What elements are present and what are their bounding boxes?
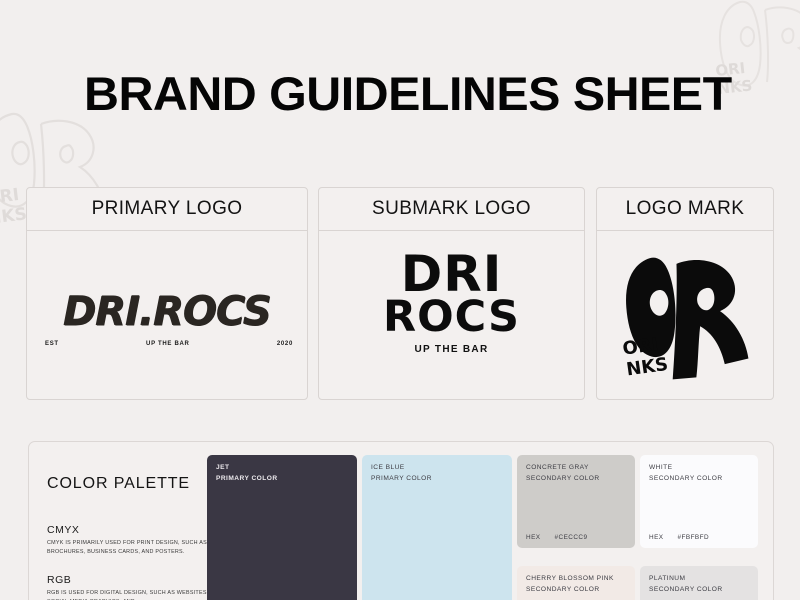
swatch-role: SECONDARY COLOR [526, 585, 614, 596]
primary-logo-artwork: DRI.ROCS EST UP THE BAR 2020 [27, 289, 307, 335]
swatch-hex-row: HEX #FBFBFD [649, 534, 709, 541]
card-header: SUBMARK LOGO [319, 188, 584, 231]
swatch-cherry-blossom-pink[interactable]: CHERRY BLOSSOM PINK SECONDARY COLOR [517, 566, 635, 600]
swatch-name: JET [216, 463, 278, 474]
swatch-role: SECONDARY COLOR [649, 474, 723, 485]
swatch-ice-blue[interactable]: ICE BLUE PRIMARY COLOR [362, 455, 512, 600]
swatch-name: ICE BLUE [371, 463, 432, 474]
swatch-label: CONCRETE GRAY SECONDARY COLOR [526, 463, 600, 485]
color-palette-panel: COLOR PALETTE CMYX CMYK IS PRIMARILY USE… [28, 441, 774, 600]
card-header: PRIMARY LOGO [27, 188, 307, 231]
swatch-label: CHERRY BLOSSOM PINK SECONDARY COLOR [526, 574, 614, 596]
primary-logo-microtext: EST UP THE BAR 2020 [45, 341, 293, 347]
swatch-white[interactable]: WHITE SECONDARY COLOR HEX #FBFBFD [640, 455, 758, 548]
swatch-name: CHERRY BLOSSOM PINK [526, 574, 614, 585]
card-logo-mark: LOGO MARK ORI NKS [596, 187, 774, 400]
swatch-name: CONCRETE GRAY [526, 463, 600, 474]
swatch-platinum[interactable]: PLATINUM SECONDARY COLOR [640, 566, 758, 600]
hex-label: HEX [526, 534, 541, 541]
palette-section-rgb: RGB RGB IS USED FOR DIGITAL DESIGN, SUCH… [47, 574, 219, 600]
submark-tagline: UP THE BAR [319, 344, 584, 355]
swatch-name: WHITE [649, 463, 723, 474]
palette-text-column: COLOR PALETTE CMYX CMYK IS PRIMARILY USE… [47, 475, 219, 600]
palette-section-cmyk: CMYX CMYK IS PRIMARILY USED FOR PRINT DE… [47, 524, 219, 557]
hex-value: #CECCC9 [555, 534, 588, 541]
swatch-label: WHITE SECONDARY COLOR [649, 463, 723, 485]
card-title: LOGO MARK [626, 198, 745, 220]
logo-cards-row: PRIMARY LOGO DRI.ROCS EST UP THE BAR 202… [26, 187, 774, 400]
section-heading: RGB [47, 574, 219, 586]
card-submark-logo: SUBMARK LOGO DRI ROCS UP THE BAR [318, 187, 585, 400]
logo-mark-artwork: ORI NKS [597, 241, 773, 391]
card-primary-logo: PRIMARY LOGO DRI.ROCS EST UP THE BAR 202… [26, 187, 308, 400]
swatch-label: PLATINUM SECONDARY COLOR [649, 574, 723, 596]
microtext-year: 2020 [277, 341, 293, 347]
swatch-role: PRIMARY COLOR [371, 474, 432, 485]
section-body: RGB IS USED FOR DIGITAL DESIGN, SUCH AS … [47, 589, 219, 600]
watermark-text-top: ORI [0, 185, 20, 209]
swatch-role: SECONDARY COLOR [649, 585, 723, 596]
hex-label: HEX [649, 534, 664, 541]
hex-value: #FBFBFD [678, 534, 710, 541]
page-title: BRAND GUIDELINES SHEET [84, 70, 732, 117]
section-body: CMYK IS PRIMARILY USED FOR PRINT DESIGN,… [47, 539, 219, 557]
card-body: ORI NKS [597, 231, 773, 400]
watermark-text-bottom: NKS [0, 204, 28, 228]
swatch-hex-row: HEX #CECCC9 [526, 534, 587, 541]
swatch-label: ICE BLUE PRIMARY COLOR [371, 463, 432, 485]
swatch-role: PRIMARY COLOR [216, 474, 278, 485]
card-body: DRI ROCS UP THE BAR [319, 231, 584, 400]
swatch-label: JET PRIMARY COLOR [216, 463, 278, 485]
card-body: DRI.ROCS EST UP THE BAR 2020 [27, 231, 307, 400]
microtext-est: EST [45, 341, 59, 347]
swatch-concrete-gray[interactable]: CONCRETE GRAY SECONDARY COLOR HEX #CECCC… [517, 455, 635, 548]
palette-title: COLOR PALETTE [47, 475, 219, 493]
submark-logo-artwork: DRI ROCS UP THE BAR [319, 251, 584, 355]
microtext-tagline: UP THE BAR [146, 341, 190, 347]
submark-line-2: ROCS [319, 298, 584, 338]
primary-logo-wordmark: DRI.ROCS [27, 289, 307, 335]
swatch-name: PLATINUM [649, 574, 723, 585]
logo-mark-text-bottom: NKS [625, 354, 669, 381]
card-header: LOGO MARK [597, 188, 773, 231]
section-heading: CMYX [47, 524, 219, 536]
card-title: PRIMARY LOGO [92, 198, 243, 220]
swatch-jet[interactable]: JET PRIMARY COLOR [207, 455, 357, 600]
swatch-role: SECONDARY COLOR [526, 474, 600, 485]
submark-line-1: DRI [319, 251, 584, 297]
card-title: SUBMARK LOGO [372, 198, 531, 220]
